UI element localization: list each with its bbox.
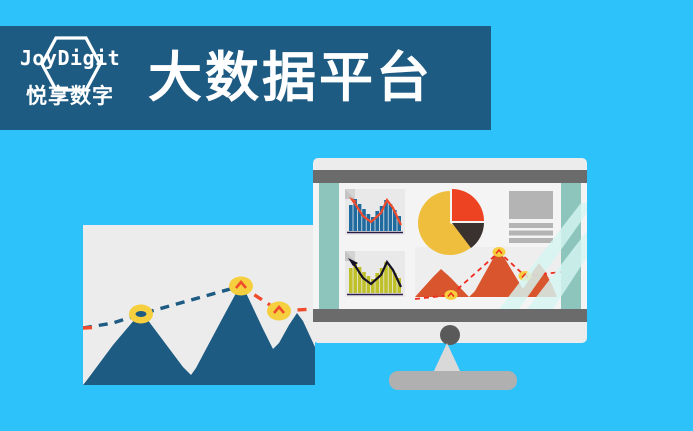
monitor-bottom-bar xyxy=(313,309,587,322)
logo-wordmark: JoyDigit xyxy=(10,48,130,68)
monitor-power-led xyxy=(440,325,460,345)
mountain-shape xyxy=(83,285,315,385)
mountain-trend-chart xyxy=(83,225,315,385)
poster-canvas: JoyDigit 悦享数字 大数据平台 xyxy=(0,0,693,431)
monitor-top-bar xyxy=(313,170,587,183)
page-title: 大数据平台 xyxy=(148,51,433,105)
monitor-stand-neck xyxy=(433,343,461,373)
dashboard-content xyxy=(313,183,587,309)
text-block-widget[interactable] xyxy=(509,191,553,243)
desktop-monitor xyxy=(313,158,587,343)
monitor-stand-base xyxy=(389,371,517,390)
header-band: JoyDigit 悦享数字 大数据平台 xyxy=(0,26,491,130)
brand-logo: JoyDigit 悦享数字 xyxy=(10,28,130,128)
logo-subtitle: 悦享数字 xyxy=(10,86,130,107)
mountain-trend-panel xyxy=(83,225,315,385)
bar-chart-card-olive[interactable] xyxy=(345,251,405,297)
trend-line-left xyxy=(83,286,241,328)
text-block-line xyxy=(509,231,553,236)
trend-markers xyxy=(129,277,291,324)
text-block-line xyxy=(509,223,553,228)
text-block-line xyxy=(509,238,553,243)
screen-stripe-left xyxy=(319,183,339,309)
text-block-header xyxy=(509,191,553,219)
monitor-screen[interactable] xyxy=(313,183,587,309)
bar-chart-card-blue[interactable] xyxy=(345,189,405,235)
